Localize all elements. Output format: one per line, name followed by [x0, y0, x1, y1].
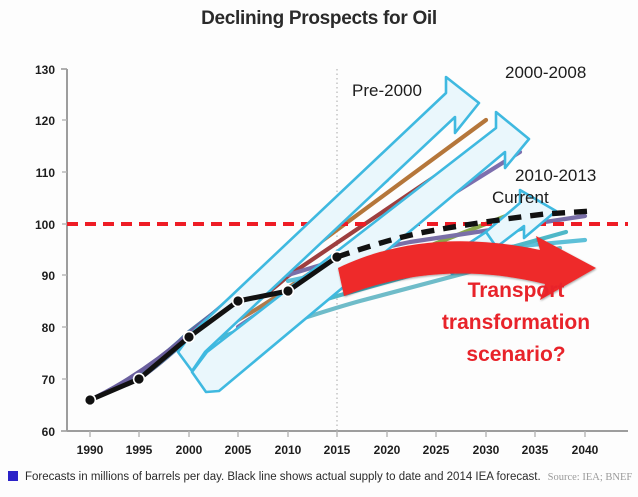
axis-x	[67, 431, 628, 437]
annotation-current: Current	[492, 188, 549, 207]
scenario-label-line-2: transformation	[442, 311, 590, 334]
x-tick-2000: 2000	[176, 443, 203, 457]
scenario-label-line-3: scenario?	[466, 343, 565, 366]
data-point-2010	[283, 286, 294, 297]
y-tick-labels: 130 120 110 100 90 80 70 60	[35, 63, 55, 439]
y-tick-90: 90	[42, 269, 56, 283]
x-tick-2040: 2040	[572, 443, 599, 457]
footnote-source: Source: IEA; BNEF	[548, 472, 633, 483]
scenario-label-line-1: Transport	[468, 279, 565, 302]
annotation-pre-2000: Pre-2000	[352, 81, 422, 100]
data-point-2000	[184, 332, 195, 343]
chart-page: Declining Prospects for Oil	[0, 0, 638, 497]
y-tick-110: 110	[36, 166, 56, 180]
footnote: Forecasts in millions of barrels per day…	[8, 470, 638, 483]
x-tick-2030: 2030	[473, 443, 500, 457]
data-point-1990	[85, 395, 96, 406]
y-tick-130: 130	[35, 63, 55, 77]
x-tick-labels: 1990 1995 2000 2005 2010 2015 2020 2025 …	[77, 443, 599, 457]
footnote-text: Forecasts in millions of barrels per day…	[25, 471, 541, 483]
x-tick-2035: 2035	[522, 443, 549, 457]
chart-plot: 130 120 110 100 90 80 70 60 1990 1995 20…	[0, 0, 638, 497]
y-tick-60: 60	[42, 425, 56, 439]
x-tick-2015: 2015	[324, 443, 351, 457]
axis-y	[61, 69, 67, 431]
data-point-1995	[134, 374, 145, 385]
x-tick-1995: 1995	[126, 443, 153, 457]
x-tick-2020: 2020	[374, 443, 401, 457]
y-tick-100: 100	[35, 218, 55, 232]
x-tick-2025: 2025	[423, 443, 450, 457]
x-tick-2010: 2010	[275, 443, 302, 457]
y-tick-70: 70	[42, 373, 56, 387]
data-point-2005	[233, 296, 244, 307]
x-tick-1990: 1990	[77, 443, 104, 457]
footnote-swatch-icon	[8, 471, 18, 481]
y-tick-120: 120	[35, 114, 55, 128]
x-tick-2005: 2005	[225, 443, 252, 457]
annotation-2000-2008: 2000-2008	[505, 63, 586, 82]
annotation-2010-2013: 2010-2013	[515, 166, 596, 185]
y-tick-80: 80	[42, 321, 56, 335]
